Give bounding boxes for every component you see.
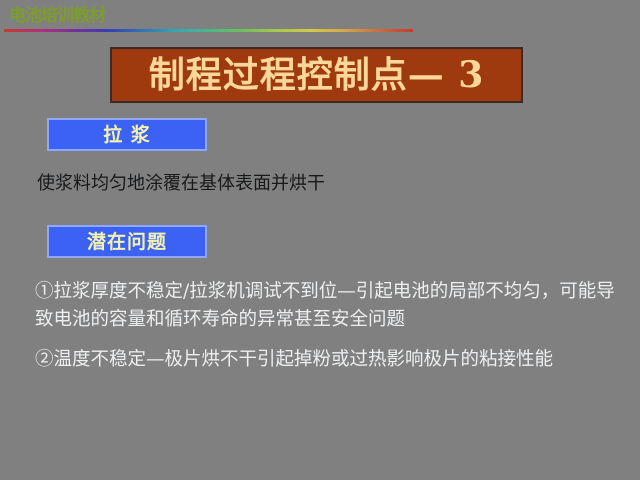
slide-title-box: 制程过程控制点— 3 [110, 47, 523, 103]
issue-item: ①拉浆厚度不稳定/拉浆机调试不到位—引起电池的局部不均匀，可能导致电池的容量和循… [35, 278, 625, 334]
section-body-la-jiang: 使浆料均匀地涂覆在基体表面并烘干 [37, 172, 325, 196]
rainbow-divider [4, 29, 413, 32]
slide-header-label: 电池培训教材 [9, 6, 105, 26]
section-heading-label-qian-zai-wen-ti: 潜在问题 [87, 231, 167, 253]
slide-canvas: 电池培训教材 制程过程控制点— 3 拉 浆 使浆料均匀地涂覆在基体表面并烘干 潜… [0, 0, 640, 480]
section-heading-box-qian-zai-wen-ti: 潜在问题 [47, 225, 207, 258]
issue-item: ②温度不稳定—极片烘不干引起掉粉或过热影响极片的粘接性能 [35, 346, 625, 374]
section-heading-label-la-jiang: 拉 浆 [103, 124, 151, 146]
page-title: 制程过程控制点— 3 [149, 55, 485, 95]
issue-list: ①拉浆厚度不稳定/拉浆机调试不到位—引起电池的局部不均匀，可能导致电池的容量和循… [35, 278, 625, 374]
section-heading-box-la-jiang: 拉 浆 [47, 118, 207, 151]
